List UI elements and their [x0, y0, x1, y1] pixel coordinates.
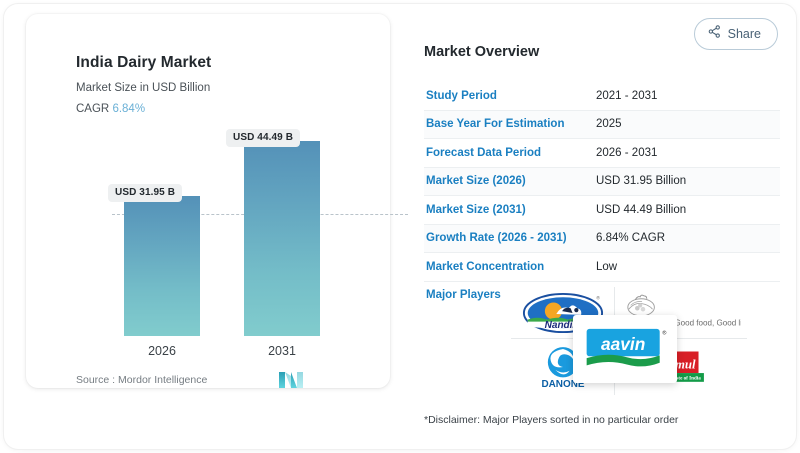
row-key[interactable]: Market Concentration — [424, 261, 596, 273]
table-row: Market Size (2026) USD 31.95 Billion — [424, 168, 780, 197]
chart-card: India Dairy Market Market Size in USD Bi… — [26, 14, 390, 388]
market-overview-table: Study Period 2021 - 2031 Base Year For E… — [424, 82, 780, 301]
market-snapshot-page: India Dairy Market Market Size in USD Bi… — [0, 0, 800, 453]
x-axis-label-2031: 2031 — [244, 344, 320, 358]
disclaimer-text: *Disclaimer: Major Players sorted in no … — [424, 414, 678, 426]
svg-text:aavin: aavin — [601, 334, 645, 354]
chart-subtitle: Market Size in USD Billion — [76, 82, 210, 94]
player-logo-aavin[interactable]: aavin ® — [573, 315, 677, 383]
x-axis-label-2026: 2026 — [124, 344, 200, 358]
row-value: Low — [596, 261, 617, 273]
market-overview-title: Market Overview — [424, 44, 780, 60]
svg-text:Good food, Good life: Good food, Good life — [674, 318, 741, 327]
svg-text:®: ® — [596, 294, 600, 301]
cagr-value: 6.84% — [112, 103, 145, 115]
table-row: Forecast Data Period 2026 - 2031 — [424, 139, 780, 168]
row-value: 2021 - 2031 — [596, 90, 657, 102]
row-value: 6.84% CAGR — [596, 232, 665, 244]
table-row: Study Period 2021 - 2031 — [424, 82, 780, 111]
row-key[interactable]: Market Size (2031) — [424, 204, 596, 216]
row-key[interactable]: Growth Rate (2026 - 2031) — [424, 232, 596, 244]
table-row: Market Size (2031) USD 44.49 Billion — [424, 196, 780, 225]
row-value: 2025 — [596, 118, 622, 130]
share-nodes-icon — [708, 25, 721, 43]
table-row: Market Concentration Low — [424, 253, 780, 282]
row-key[interactable]: Market Size (2026) — [424, 175, 596, 187]
bar-value-label-2031: USD 44.49 B — [226, 129, 300, 147]
row-value: USD 31.95 Billion — [596, 175, 686, 187]
svg-text:®: ® — [662, 329, 666, 336]
row-key[interactable]: Base Year For Estimation — [424, 118, 596, 130]
bar-chart-plot: USD 31.95 B USD 44.49 B 2026 2031 — [76, 124, 366, 354]
aavin-logo-icon: aavin ® — [583, 325, 667, 373]
market-overview-panel: Market Overview Study Period 2021 - 2031… — [424, 44, 780, 301]
major-players-logo-grid: Nandini ® Nestle Good food, Good life — [511, 287, 747, 395]
row-key[interactable]: Forecast Data Period — [424, 147, 596, 159]
bar-value-label-2026: USD 31.95 B — [108, 184, 182, 202]
source-text: Source : Mordor Intelligence — [76, 374, 207, 386]
row-key[interactable]: Study Period — [424, 90, 596, 102]
chart-title: India Dairy Market — [76, 54, 211, 72]
bar-2026[interactable] — [124, 196, 200, 336]
mordor-intelligence-logo-icon — [278, 371, 304, 389]
table-row: Base Year For Estimation 2025 — [424, 111, 780, 140]
row-value: USD 44.49 Billion — [596, 204, 686, 216]
chart-cagr: CAGR 6.84% — [76, 103, 145, 115]
row-value: 2026 - 2031 — [596, 147, 657, 159]
table-row: Growth Rate (2026 - 2031) 6.84% CAGR — [424, 225, 780, 254]
cagr-label: CAGR — [76, 103, 109, 115]
bar-2031[interactable] — [244, 141, 320, 336]
share-button-label: Share — [728, 27, 761, 41]
